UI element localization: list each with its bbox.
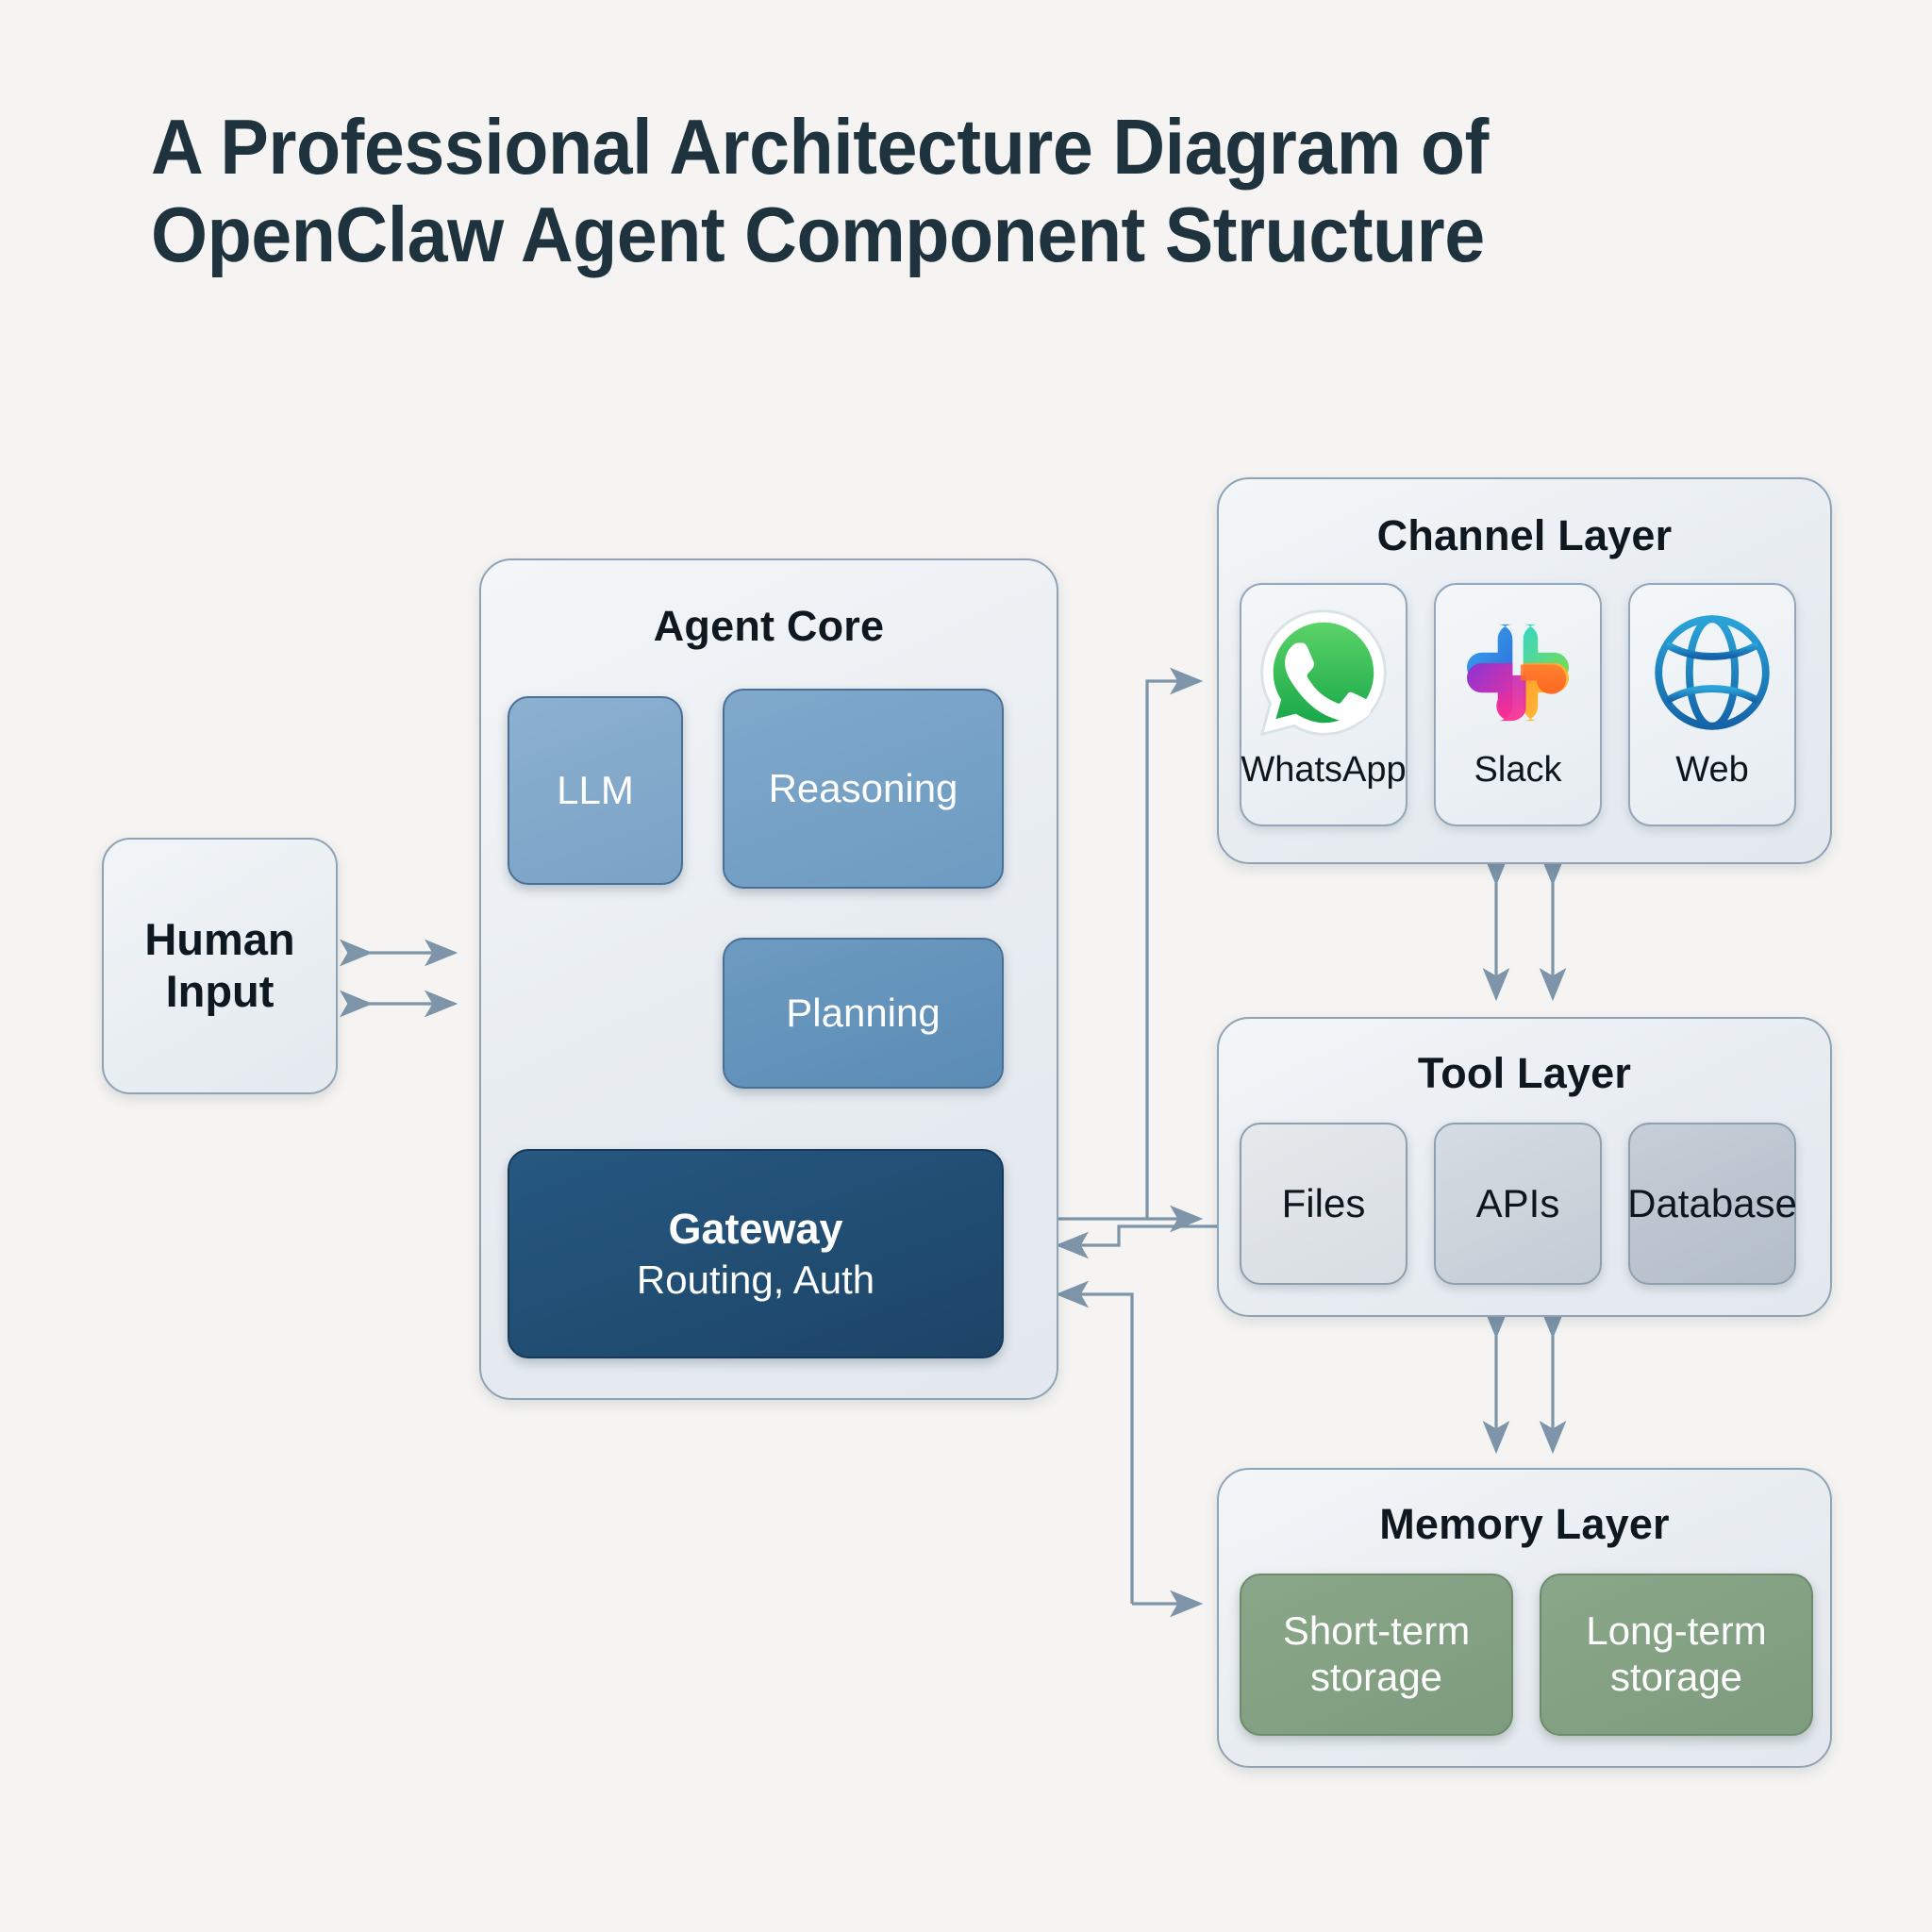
channel-layer-panel: Channel Layer WhatsApp: [1217, 477, 1832, 864]
agent-core-panel: Agent Core LLM Reasoning Planning Gatewa…: [479, 558, 1058, 1400]
node-llm[interactable]: LLM: [508, 696, 683, 885]
memory-label-short-line-2: storage: [1310, 1655, 1442, 1701]
globe-icon: [1645, 606, 1779, 740]
node-planning[interactable]: Planning: [723, 938, 1004, 1089]
channel-label-slack: Slack: [1474, 749, 1562, 791]
tool-item-apis[interactable]: APIs: [1434, 1123, 1602, 1285]
memory-layer-panel: Memory Layer Short-term storage Long-ter…: [1217, 1468, 1832, 1768]
memory-layer-title: Memory Layer: [1219, 1500, 1830, 1549]
arrow-memory-to-gateway: [1058, 1294, 1132, 1604]
node-reasoning-label: Reasoning: [769, 766, 958, 812]
memory-label-long-line-2: storage: [1610, 1655, 1742, 1701]
tool-label-apis: APIs: [1476, 1181, 1560, 1227]
channel-item-web[interactable]: Web: [1628, 583, 1796, 826]
tool-item-database[interactable]: Database: [1628, 1123, 1796, 1285]
node-gateway[interactable]: Gateway Routing, Auth: [508, 1149, 1004, 1358]
memory-item-short-term[interactable]: Short-term storage: [1240, 1574, 1513, 1736]
human-input-box[interactable]: Human Input: [102, 838, 338, 1094]
channel-layer-title: Channel Layer: [1219, 511, 1830, 560]
title-line-2: OpenClaw Agent Component Structure: [151, 192, 1695, 279]
channel-item-whatsapp[interactable]: WhatsApp: [1240, 583, 1407, 826]
node-llm-label: LLM: [557, 768, 634, 814]
gateway-label: Gateway: [668, 1205, 842, 1254]
memory-label-short-line-1: Short-term: [1283, 1608, 1470, 1655]
node-planning-label: Planning: [786, 991, 940, 1037]
human-input-line-1: Human: [144, 914, 294, 966]
tool-label-files: Files: [1282, 1181, 1366, 1227]
channel-label-whatsapp: WhatsApp: [1241, 749, 1406, 791]
memory-item-long-term[interactable]: Long-term storage: [1540, 1574, 1813, 1736]
tool-item-files[interactable]: Files: [1240, 1123, 1407, 1285]
channel-label-web: Web: [1675, 749, 1748, 791]
gateway-subtitle: Routing, Auth: [637, 1257, 874, 1304]
tool-layer-title: Tool Layer: [1219, 1049, 1830, 1098]
tool-layer-panel: Tool Layer Files APIs Database: [1217, 1017, 1832, 1317]
tool-label-database: Database: [1627, 1181, 1797, 1227]
slack-icon: [1451, 606, 1585, 740]
agent-core-title: Agent Core: [481, 602, 1057, 651]
memory-label-long-line-1: Long-term: [1586, 1608, 1766, 1655]
node-reasoning[interactable]: Reasoning: [723, 689, 1004, 889]
arrow-gateway-to-channel: [1058, 681, 1200, 1219]
human-input-line-2: Input: [166, 966, 275, 1018]
title-line-1: A Professional Architecture Diagram of: [151, 104, 1695, 192]
channel-item-slack[interactable]: Slack: [1434, 583, 1602, 826]
whatsapp-icon: [1257, 606, 1391, 740]
arrow-tool-to-gateway: [1058, 1226, 1217, 1245]
diagram-canvas: A Professional Architecture Diagram of O…: [0, 0, 1932, 1932]
page-title: A Professional Architecture Diagram of O…: [151, 104, 1695, 279]
